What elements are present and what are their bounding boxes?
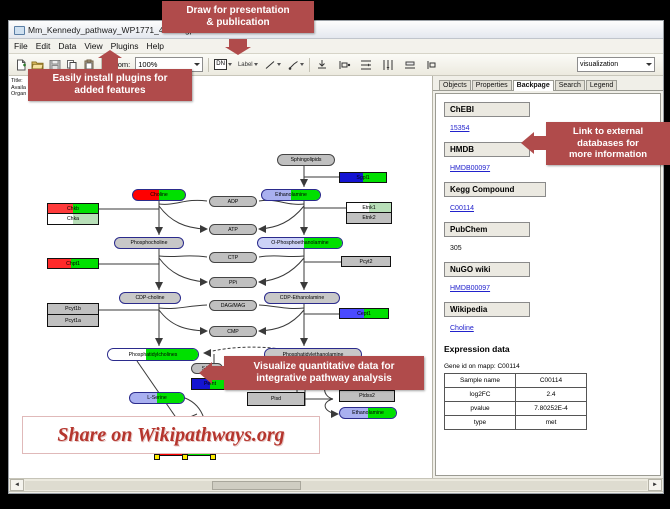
node-ethanolamine-top[interactable]: Ethanolamine — [261, 189, 321, 201]
node-l-serine-left[interactable]: L-Serine — [129, 392, 185, 404]
cell-key: log2FC — [445, 388, 516, 402]
scroll-thumb[interactable] — [212, 481, 301, 490]
callout-arrow-icon — [98, 50, 122, 58]
db-header-kegg: Kegg Compound — [444, 182, 546, 197]
app-window-icon — [13, 24, 24, 35]
horizontal-scrollbar[interactable]: ◄ ► — [9, 478, 663, 491]
node-chka[interactable]: Chka — [47, 214, 99, 225]
cell-key: pvalue — [445, 402, 516, 416]
table-row: log2FC 2.4 — [445, 388, 587, 402]
toolbar-separator — [309, 58, 310, 72]
arrowhead-right — [200, 225, 208, 233]
table-row: type met — [445, 416, 587, 430]
callout-draw: Draw for presentation & publication — [162, 1, 314, 33]
distribute-horizontal-icon[interactable] — [381, 57, 396, 72]
arrowhead-right — [200, 327, 208, 335]
align-top-icon[interactable] — [315, 57, 330, 72]
node-pisd[interactable]: Pisd — [247, 392, 305, 406]
node-pcyt2[interactable]: Pcyt2 — [341, 256, 391, 267]
callout-share-text: Share on Wikipathways.org — [57, 424, 284, 447]
node-adp[interactable]: ADP — [209, 196, 257, 207]
node-sgpl1[interactable]: Sgpl1 — [339, 172, 387, 183]
arrowhead-down — [155, 338, 163, 346]
node-pcyt1a[interactable]: Pcyt1a — [47, 315, 99, 327]
visualization-combo[interactable]: visualization — [577, 57, 655, 72]
cell-value: C00114 — [516, 374, 587, 388]
node-ptdss2[interactable]: Ptdss2 — [339, 390, 395, 402]
callout-share: Share on Wikipathways.org — [22, 416, 320, 454]
node-sphingolipids[interactable]: Sphingolipids — [277, 154, 335, 166]
node-ctp[interactable]: CTP — [209, 252, 257, 263]
db-header-wikipedia: Wikipedia — [444, 302, 530, 317]
db-header-nugo: NuGO wiki — [444, 262, 530, 277]
selection-handle[interactable] — [182, 454, 188, 460]
arrowhead-down — [300, 179, 308, 187]
db-link-chebi[interactable]: 15354 — [450, 125, 469, 132]
node-choline-top[interactable]: Choline — [132, 189, 186, 201]
chevron-down-icon — [277, 63, 281, 66]
callout-stem — [533, 136, 547, 150]
menu-help[interactable]: Help — [147, 41, 164, 51]
status-bar: | Gene database: ...m_Derby_20120602.bri… — [9, 491, 663, 494]
node-cmp[interactable]: CMP — [209, 326, 257, 337]
line-tool[interactable] — [265, 60, 281, 70]
node-atp[interactable]: ATP — [209, 224, 257, 235]
cell-value: met — [516, 416, 587, 430]
arrowhead-down — [300, 282, 308, 290]
db-header-hmdb: HMDB — [444, 142, 530, 157]
node-ppi[interactable]: PPi — [209, 277, 257, 288]
callout-draw-line1: Draw for presentation — [168, 5, 308, 17]
arrowhead-right — [200, 278, 208, 286]
scroll-right-icon[interactable]: ► — [648, 479, 662, 491]
cell-key: Sample name — [445, 374, 516, 388]
db-link-wikipedia[interactable]: Choline — [450, 325, 474, 332]
expression-data-heading: Expression data — [444, 344, 652, 354]
menu-file[interactable]: File — [14, 41, 28, 51]
side-tabs: Objects Properties Backpage Search Legen… — [433, 76, 663, 91]
callout-draw-line2: & publication — [168, 17, 308, 29]
scroll-left-icon[interactable]: ◄ — [10, 479, 24, 491]
new-file-icon[interactable] — [13, 57, 28, 72]
selection-handle[interactable] — [154, 454, 160, 460]
chevron-down-icon — [300, 63, 304, 66]
callout-databases-line2: databases for — [551, 138, 665, 150]
arrowhead-left — [258, 225, 266, 233]
pathway-info-header: Title: Availa Organ — [11, 78, 26, 98]
callout-visualize-line2: integrative pathway analysis — [230, 373, 418, 385]
table-row: pvalue 7.80252E-4 — [445, 402, 587, 416]
callout-arrow-icon — [225, 47, 251, 55]
node-phosphocholine[interactable]: Phosphocholine — [114, 237, 184, 249]
node-dagmag[interactable]: DAG/MAG — [209, 300, 257, 311]
callout-visualize-line1: Visualize quantitative data for — [230, 361, 418, 373]
arrowhead-down — [300, 227, 308, 235]
node-chpt1[interactable]: Chpt1 — [47, 258, 99, 269]
arrowhead-down — [155, 227, 163, 235]
node-cdp-choline[interactable]: CDP-choline — [119, 292, 181, 304]
tab-search[interactable]: Search — [555, 80, 585, 90]
arrowhead-down — [300, 338, 308, 346]
callout-visualize: Visualize quantitative data for integrat… — [224, 356, 424, 390]
callout-plugins-line2: added features — [34, 85, 186, 97]
arrowhead-left — [258, 327, 266, 335]
node-etnk1[interactable]: Etnk1 — [346, 202, 392, 213]
node-ethanolamine-right[interactable]: Ethanolamine — [339, 407, 397, 419]
distribute-vertical-icon[interactable] — [359, 57, 374, 72]
node-phosphatidylcholines[interactable]: Phosphatidylcholines — [107, 348, 199, 361]
db-link-nugo[interactable]: HMDB00097 — [450, 285, 490, 292]
callout-arrow-icon — [521, 132, 534, 154]
tab-properties[interactable]: Properties — [472, 80, 512, 90]
gene-id-label: Gene id on mapp: C00114 — [444, 363, 652, 370]
info-organism-label: Organ — [11, 91, 26, 98]
callout-stem — [211, 366, 225, 380]
db-header-pubchem: PubChem — [444, 222, 530, 237]
menu-edit[interactable]: Edit — [36, 41, 51, 51]
menu-data[interactable]: Data — [58, 41, 76, 51]
align-left-icon[interactable] — [337, 57, 352, 72]
zoom-value: 100% — [138, 60, 157, 69]
arrowhead-right — [331, 410, 339, 418]
callout-databases: Link to external databases for more info… — [546, 122, 670, 165]
table-row: Sample name C00114 — [445, 374, 587, 388]
title-bar: Mm_Kennedy_pathway_WP1771_45176.gpml — [9, 21, 663, 39]
chevron-down-icon — [254, 63, 258, 66]
callout-arrow-icon — [199, 362, 212, 384]
db-link-kegg[interactable]: C00114 — [450, 205, 474, 212]
align-stack-icon[interactable] — [403, 57, 418, 72]
tab-legend[interactable]: Legend — [586, 80, 617, 90]
node-cept1[interactable]: Cept1 — [339, 308, 389, 319]
node-pcyt1b[interactable]: Pcyt1b — [47, 303, 99, 315]
scroll-track[interactable] — [25, 481, 647, 490]
node-chkb[interactable]: Chkb — [47, 203, 99, 214]
node-cdp-ethanolamine[interactable]: CDP-Ethanolamine — [264, 292, 340, 304]
cell-value: 7.80252E-4 — [516, 402, 587, 416]
datanode-tool[interactable]: DN — [214, 59, 232, 70]
callout-databases-line3: more information — [551, 149, 665, 161]
expression-table: Sample name C00114 log2FC 2.4 pvalue 7.8… — [444, 373, 587, 430]
toolbar-separator — [208, 58, 209, 72]
callout-stem — [102, 57, 118, 70]
db-header-chebi: ChEBI — [444, 102, 530, 117]
arrowhead-left — [258, 278, 266, 286]
visualization-value: visualization — [580, 61, 618, 68]
tab-objects[interactable]: Objects — [439, 80, 471, 90]
selection-handle[interactable] — [210, 454, 216, 460]
label-tool-caption: Label — [238, 62, 253, 68]
db-value-pubchem: 305 — [450, 245, 462, 252]
cell-value: 2.4 — [516, 388, 587, 402]
cell-key: type — [445, 416, 516, 430]
callout-databases-line1: Link to external — [551, 126, 665, 138]
arrowhead-down — [155, 282, 163, 290]
chevron-down-icon — [228, 63, 232, 66]
node-o-phosphoethanolamine[interactable]: O-Phosphoethanolamine — [257, 237, 343, 249]
arrow-tool[interactable] — [288, 60, 304, 70]
arrowhead-left — [203, 349, 211, 357]
tab-backpage[interactable]: Backpage — [513, 80, 554, 91]
callout-plugins-line1: Easily install plugins for — [34, 73, 186, 85]
chevron-down-icon — [194, 63, 200, 66]
db-link-hmdb[interactable]: HMDB00097 — [450, 165, 490, 172]
chevron-down-icon — [646, 63, 652, 66]
callout-plugins: Easily install plugins for added feature… — [28, 69, 192, 101]
align-right-icon[interactable] — [425, 57, 440, 72]
label-tool[interactable]: Label — [238, 62, 258, 68]
node-etnk2[interactable]: Etnk2 — [346, 213, 392, 224]
